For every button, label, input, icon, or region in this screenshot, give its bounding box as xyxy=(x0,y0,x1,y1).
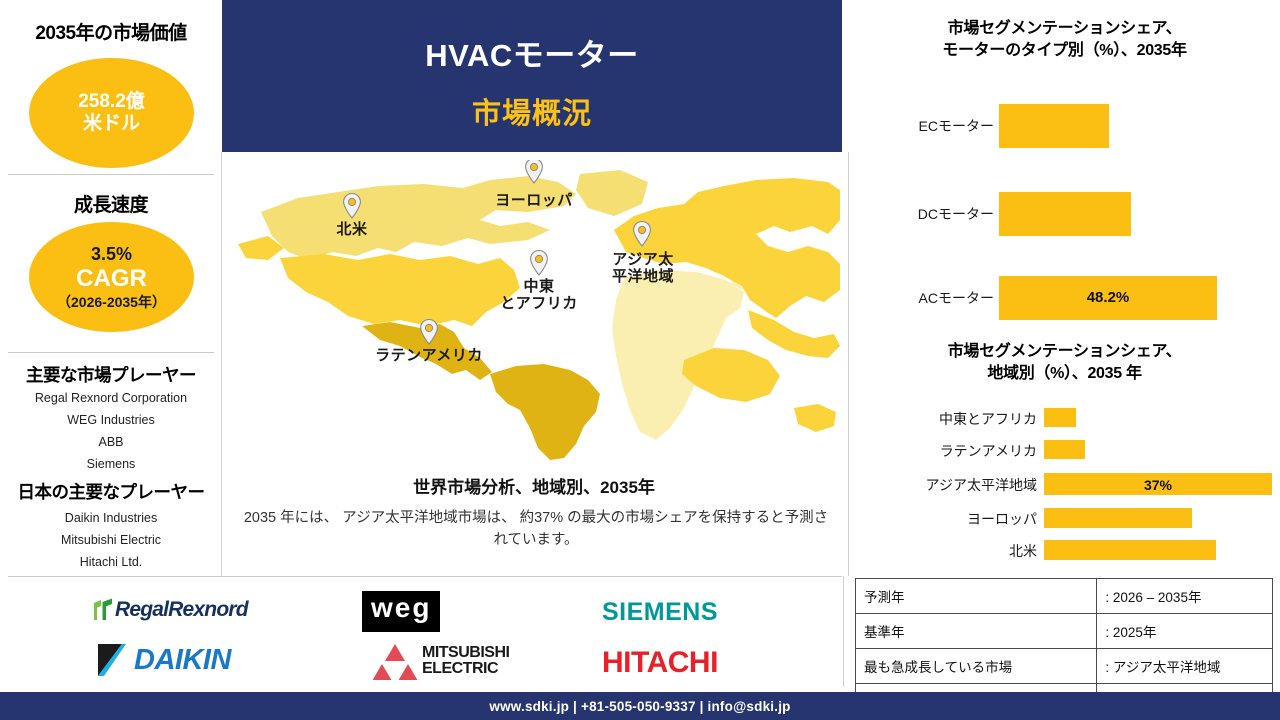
logo-regal-rexnord: RegalRexnord xyxy=(92,595,248,625)
bar-latin-america xyxy=(1044,440,1085,459)
market-value-currency: 米ドル xyxy=(83,113,140,135)
bar-label-ec-motor: ECモーター xyxy=(859,116,994,136)
map-caption: 世界市場分析、地域別、2035年 xyxy=(228,473,840,498)
vertical-divider-left xyxy=(221,152,222,576)
logo-weg: weg xyxy=(362,591,440,632)
bar-europe xyxy=(1044,508,1192,528)
footer-bar: www.sdki.jp | +81-505-050-9337 | info@sd… xyxy=(0,692,1280,720)
logo-strip: RegalRexnord weg SIEMENS DAIKIN xyxy=(0,580,842,687)
logo-siemens: SIEMENS xyxy=(602,598,718,627)
key-player-item: ABB xyxy=(0,435,222,449)
table-cell-key: 最も急成長している市場 xyxy=(856,649,1097,684)
bar-label-latin-america: ラテンアメリカ xyxy=(849,441,1037,461)
page-subtitle: 市場概況 xyxy=(222,90,842,132)
bar-label-north-america: 北米 xyxy=(849,541,1037,561)
key-player-item: WEG Industries xyxy=(0,413,222,427)
logo-siemens-text: SIEMENS xyxy=(602,598,718,627)
table-cell-value: : 2026 – 2035年 xyxy=(1097,579,1273,614)
logo-mitsubishi-electric: MITSUBISHI ELECTRIC xyxy=(372,642,509,680)
map-label-apac: アジア太 平洋地域 xyxy=(588,252,698,286)
bar-label-mea: 中東とアフリカ xyxy=(849,409,1037,429)
footer-contact-text: www.sdki.jp | +81-505-050-9337 | info@sd… xyxy=(489,699,790,714)
logo-hitachi: HITACHI xyxy=(602,646,718,680)
growth-rate-heading: 成長速度 xyxy=(0,190,222,217)
map-pin-icon xyxy=(631,220,653,248)
market-value-heading: 2035年の市場価値 xyxy=(0,18,222,45)
japan-players-heading: 日本の主要なプレーヤー xyxy=(0,479,222,504)
table-cell-key: 予測年 xyxy=(856,579,1097,614)
map-label-north-america: 北米 xyxy=(312,222,392,239)
divider-1 xyxy=(8,174,214,175)
table-row: 基準年 : 2025年 xyxy=(856,614,1273,649)
map-label-mea: 中東 とアフリカ xyxy=(473,279,605,313)
key-player-item: Regal Rexnord Corporation xyxy=(0,391,222,405)
logo-daikin: DAIKIN xyxy=(96,642,231,678)
bar-label-dc-motor: DCモーター xyxy=(859,204,994,224)
bar-value-apac: 37% xyxy=(1044,477,1272,493)
map-description: 2035 年には、 アジア太平洋地域市場は、 約37% の最大の市場シェアを保持… xyxy=(238,507,834,552)
table-row: 予測年 : 2026 – 2035年 xyxy=(856,579,1273,614)
bar-mea xyxy=(1044,408,1076,427)
chart-title-region: 市場セグメンテーションシェア、 地域別（%）、2035 年 xyxy=(849,341,1280,384)
divider-2 xyxy=(8,352,214,353)
map-label-europe: ヨーロッパ xyxy=(464,193,604,210)
bar-ec-motor xyxy=(999,104,1109,148)
japan-player-item: Hitachi Ltd. xyxy=(0,555,222,569)
map-label-latin-america: ラテンアメリカ xyxy=(334,348,524,365)
cagr-bubble: 3.5% CAGR （2026-2035年） xyxy=(29,222,194,332)
table-row: 最も急成長している市場 : アジア太平洋地域 xyxy=(856,649,1273,684)
bar-label-ac-motor: ACモーター xyxy=(859,288,994,308)
map-region-north-canada xyxy=(261,170,648,260)
logo-hitachi-text: HITACHI xyxy=(602,646,718,680)
map-pin-icon xyxy=(418,318,440,346)
cagr-period: （2026-2035年） xyxy=(57,294,166,311)
cagr-percent: 3.5% xyxy=(91,244,132,265)
key-player-item: Siemens xyxy=(0,457,222,471)
bar-label-europe: ヨーロッパ xyxy=(849,509,1037,529)
logo-weg-text: weg xyxy=(371,596,431,620)
market-value-bubble: 258.2億 米ドル xyxy=(29,58,194,168)
regal-rexnord-mark-icon xyxy=(92,598,114,622)
logo-mitsubishi-text-2: ELECTRIC xyxy=(422,661,509,677)
mitsubishi-mark-icon xyxy=(372,642,418,680)
horizontal-divider-logos xyxy=(8,576,842,577)
table-cell-key: 基準年 xyxy=(856,614,1097,649)
chart-title-motor-type: 市場セグメンテーションシェア、 モーターのタイプ別（%）、2035年 xyxy=(849,18,1280,61)
map-pin-icon xyxy=(528,249,550,277)
cagr-label: CAGR xyxy=(76,265,147,293)
page-title: HVACモーター xyxy=(222,30,842,75)
market-value-amount: 258.2億 xyxy=(78,91,145,113)
key-players-heading: 主要な市場プレーヤー xyxy=(0,362,222,387)
logo-mitsubishi-text-1: MITSUBISHI xyxy=(422,645,509,661)
map-pin-icon xyxy=(341,192,363,220)
daikin-mark-icon xyxy=(96,642,132,678)
bar-dc-motor xyxy=(999,192,1131,236)
map-pin-icon xyxy=(523,160,545,185)
map-region-south-america xyxy=(490,364,600,460)
bar-north-america xyxy=(1044,540,1216,560)
bar-label-apac: アジア太平洋地域 xyxy=(849,475,1037,495)
table-cell-value: : 2025年 xyxy=(1097,614,1273,649)
japan-player-item: Mitsubishi Electric xyxy=(0,533,222,547)
logo-regal-rexnord-text: RegalRexnord xyxy=(115,598,248,622)
table-cell-value: : アジア太平洋地域 xyxy=(1097,649,1273,684)
world-map: 北米 ヨーロッパ 中東 とアフリカ アジア太 平洋地域 ラテンアメリカ xyxy=(228,160,840,460)
infographic-root: 2035年の市場価値 258.2億 米ドル 成長速度 3.5% CAGR （20… xyxy=(0,0,1280,720)
vertical-divider-right-lower xyxy=(843,576,844,687)
logo-daikin-text: DAIKIN xyxy=(134,644,231,677)
japan-player-item: Daikin Industries xyxy=(0,511,222,525)
bar-value-ac-motor: 48.2% xyxy=(999,289,1217,306)
